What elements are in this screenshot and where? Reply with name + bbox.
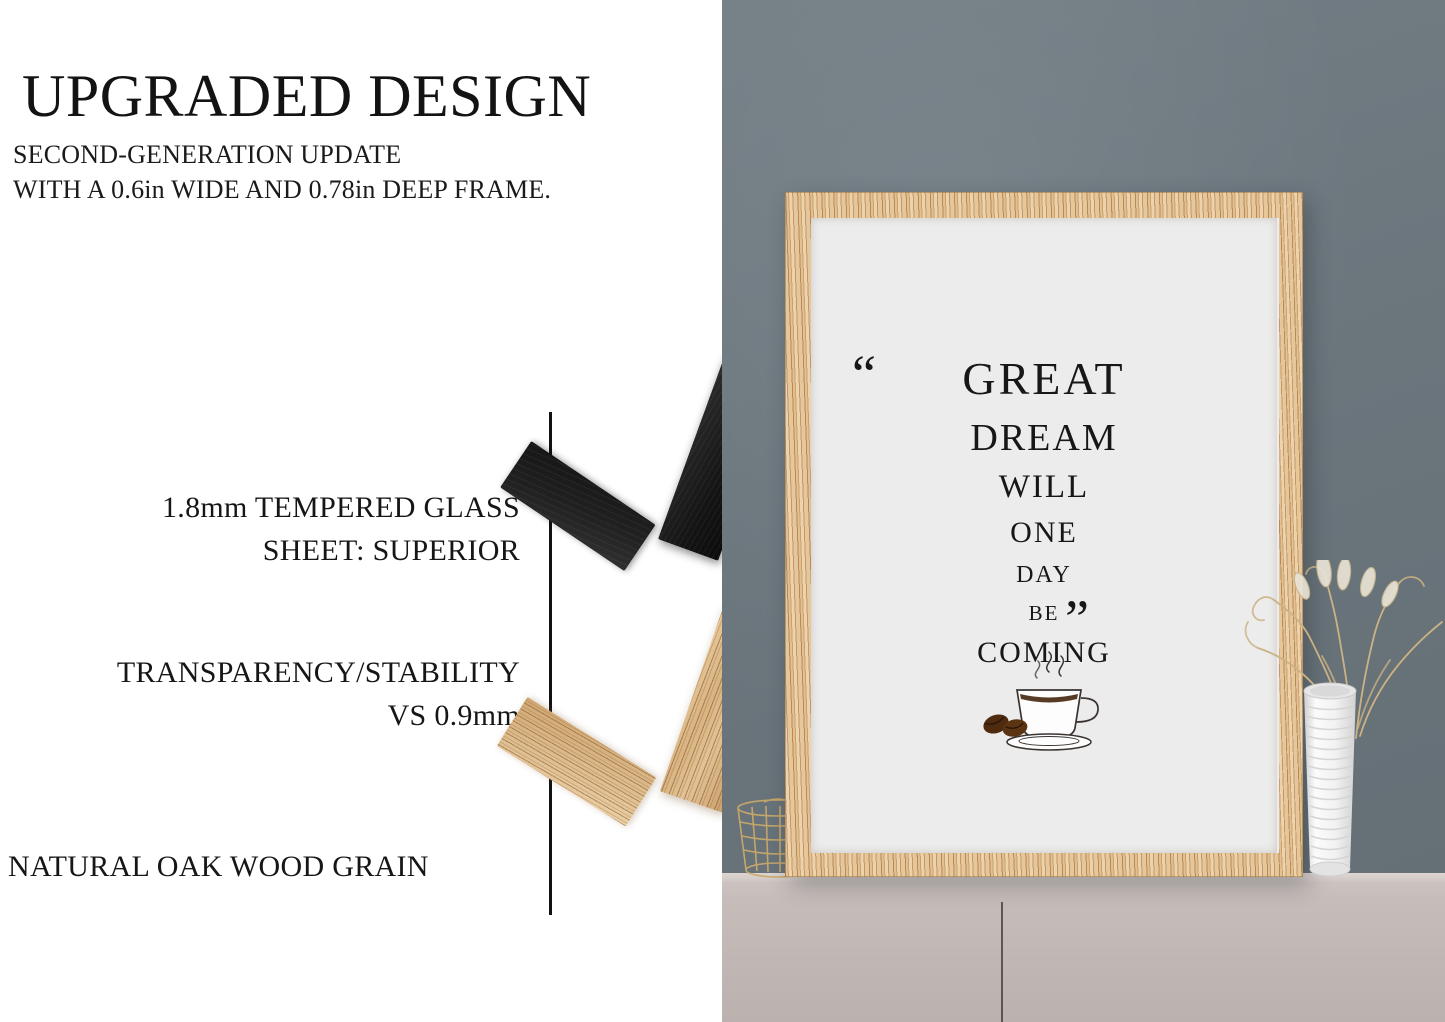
poster-line-be: BE [1029,603,1060,624]
oak-sample-arm-left [497,697,657,827]
poster-line-one: ONE [1010,518,1078,548]
infographic-root: UPGRADED DESIGN SECOND-GENERATION UPDATE… [0,0,1445,1022]
feature-tempered-glass-line-2: SHEET: SUPERIOR [162,530,520,573]
feature-natural-oak: NATURAL OAK WOOD GRAIN [8,846,429,889]
quote-close-mark: ” [1065,592,1089,646]
subtitle-line-1: SECOND-GENERATION UPDATE [13,140,401,170]
poster-line-will: WILL [999,471,1089,504]
white-ribbed-vase [1290,680,1370,880]
poster-artwork: GREAT DREAM WILL ONE DAY BE COMING [811,218,1277,853]
quote-open-mark: “ [852,347,876,401]
subtitle-line-2: WITH A 0.6in WIDE AND 0.78in DEEP FRAME. [13,175,551,205]
coffee-cup-icon [963,646,1133,766]
feature-transparency-line-2: VS 0.9mm [117,695,520,738]
feature-tempered-glass-line-1: 1.8mm TEMPERED GLASS [162,487,520,530]
feature-transparency-stability: TRANSPARENCY/STABILITY VS 0.9mm [117,652,520,737]
lifestyle-photo: GREAT DREAM WILL ONE DAY BE COMING [722,0,1445,1022]
black-sample-arm-left [500,441,656,571]
feature-tempered-glass: 1.8mm TEMPERED GLASS SHEET: SUPERIOR [162,487,520,572]
poster-line-dream: DREAM [970,419,1117,457]
feature-natural-oak-line-1: NATURAL OAK WOOD GRAIN [8,846,429,889]
poster-line-great: GREAT [962,356,1125,402]
page-title: UPGRADED DESIGN [22,62,591,131]
sideboard-furniture [722,873,1445,1022]
sideboard-door-seam [1001,902,1003,1022]
poster-line-day: DAY [1016,563,1072,587]
feature-transparency-line-1: TRANSPARENCY/STABILITY [117,652,520,695]
